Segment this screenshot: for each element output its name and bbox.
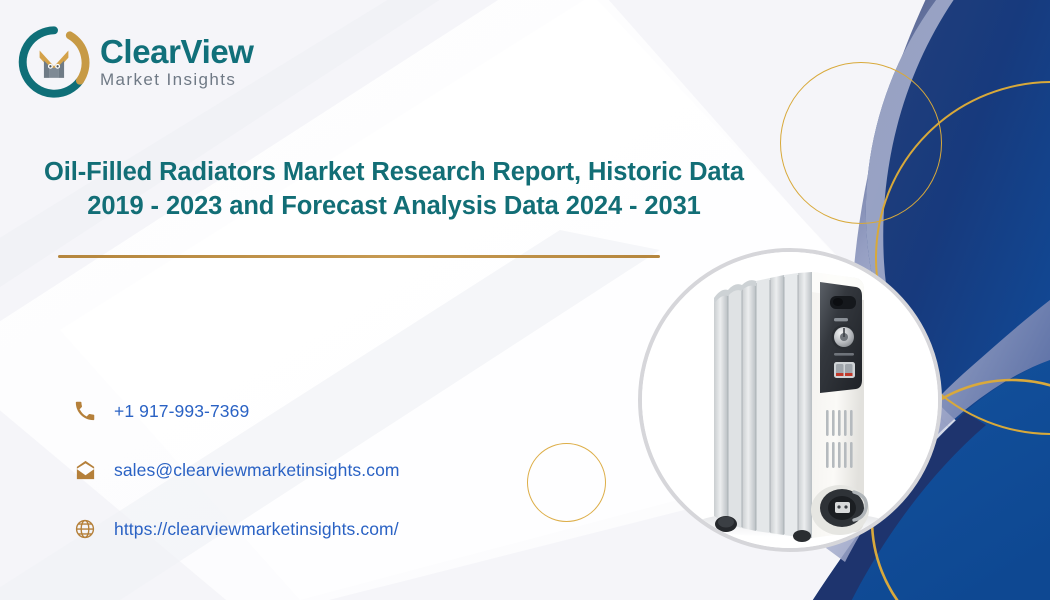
email-address: sales@clearviewmarketinsights.com [114,460,400,481]
decorative-gold-ring-top [780,62,942,224]
contact-list: +1 917-993-7369 sales@clearviewmarketins… [70,394,400,546]
contact-website[interactable]: https://clearviewmarketinsights.com/ [70,512,400,546]
phone-number: +1 917-993-7369 [114,401,249,422]
email-icon [70,455,100,485]
brand-name: ClearView [100,35,254,69]
contact-email[interactable]: sales@clearviewmarketinsights.com [70,453,400,487]
title-divider [58,255,660,258]
decorative-gold-ring-small [527,443,606,522]
page-title: Oil-Filled Radiators Market Research Rep… [34,155,754,224]
globe-icon [70,514,100,544]
phone-icon [70,396,100,426]
website-url: https://clearviewmarketinsights.com/ [114,519,399,540]
clearview-owl-circle-logo-icon [18,26,90,98]
brand-tagline: Market Insights [100,71,254,89]
brand-logo: ClearView Market Insights [18,26,254,98]
oil-filled-radiator-photo-icon [642,252,942,552]
product-image-circle [638,248,942,552]
contact-phone[interactable]: +1 917-993-7369 [70,394,400,428]
poster-canvas: ClearView Market Insights Oil-Filled Rad… [0,0,1050,600]
